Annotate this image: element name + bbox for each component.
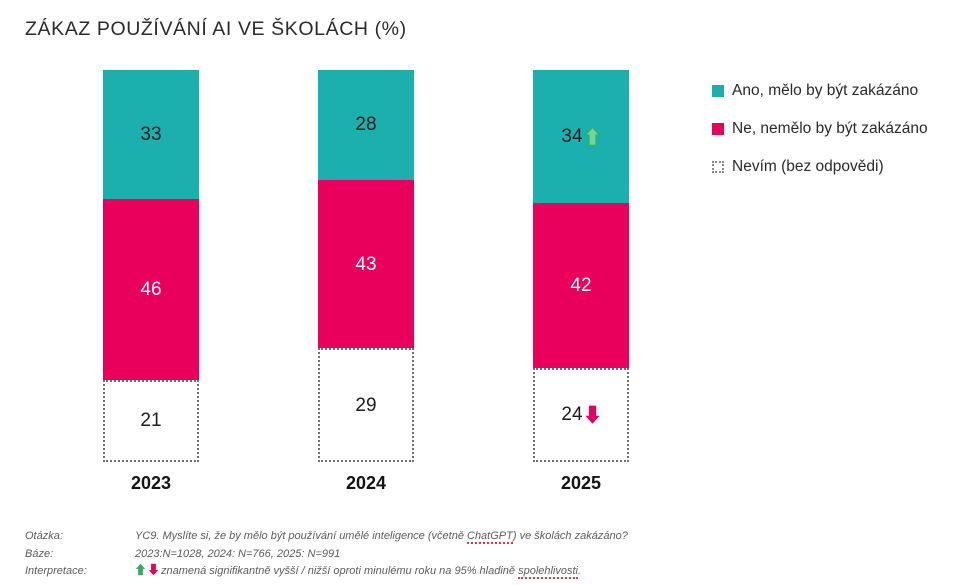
page-title: ZÁKAZ POUŽÍVÁNÍ AI VE ŠKOLÁCH (%) (25, 18, 407, 41)
teal-square-icon (712, 85, 724, 97)
segment-label-wrap: 34 (561, 126, 600, 147)
footnote-label-base: Báze: (25, 546, 135, 564)
interpretation-text-part2: . (578, 565, 581, 577)
footnote-row-question: Otázka: YC9. Myslíte si, že by mělo být … (25, 528, 955, 546)
crimson-square-icon (712, 123, 724, 135)
legend-item-no[interactable]: Ne, nemělo by být zakázáno (712, 120, 970, 138)
dotted-square-icon (712, 161, 724, 173)
x-axis: 2023 2024 2025 (0, 473, 700, 501)
footnote-row-interpretation: Interpretace: znamená signifikantně vyšš… (25, 563, 955, 581)
segment-label-wrap: 24 (561, 404, 600, 425)
x-tick-2025: 2025 (533, 473, 629, 494)
question-spell-chatgpt: ChatGPT (467, 530, 513, 544)
bar-segment-2025-dontknow[interactable]: 24 (533, 368, 629, 462)
bar-segment-2024-yes[interactable]: 28 (318, 70, 414, 180)
bar-group-2025: 34 42 24 (533, 70, 629, 462)
arrow-down-icon (584, 404, 601, 425)
footnote-label-interpretation: Interpretace: (25, 563, 135, 581)
bar-segment-2024-no[interactable]: 43 (318, 180, 414, 349)
footnotes: Otázka: YC9. Myslíte si, že by mělo být … (25, 528, 955, 581)
segment-label-wrap: 29 (355, 396, 376, 415)
arrow-up-icon (135, 563, 146, 576)
footnote-text-question: YC9. Myslíte si, že by mělo být používán… (135, 528, 955, 546)
segment-value: 21 (140, 411, 161, 430)
chart-legend: Ano, mělo by být zakázáno Ne, nemělo by … (712, 82, 970, 196)
arrow-down-icon (148, 563, 159, 576)
arrow-up-icon (584, 126, 601, 147)
bar-segment-2023-yes[interactable]: 33 (103, 70, 199, 199)
question-text-part1: YC9. Myslíte si, že by mělo být používán… (135, 530, 467, 542)
segment-value: 34 (561, 127, 582, 146)
segment-value: 33 (140, 125, 161, 144)
chart-plot-area: 33 46 21 28 43 29 (0, 70, 700, 462)
segment-label-wrap: 21 (140, 411, 161, 430)
segment-value: 46 (140, 280, 161, 299)
bar-segment-2024-dontknow[interactable]: 29 (318, 348, 414, 462)
segment-label-wrap: 43 (355, 255, 376, 274)
footnote-label-question: Otázka: (25, 528, 135, 546)
segment-value: 28 (355, 115, 376, 134)
footnote-row-base: Báze: 2023:N=1028, 2024: N=766, 2025: N=… (25, 546, 955, 564)
bar-group-2024: 28 43 29 (318, 70, 414, 462)
bar-segment-2025-no[interactable]: 42 (533, 203, 629, 368)
segment-value: 29 (355, 396, 376, 415)
bar-segment-2025-yes[interactable]: 34 (533, 70, 629, 203)
segment-label-wrap: 46 (140, 280, 161, 299)
footnote-text-interpretation: znamená signifikantně vyšší / nižší opro… (135, 563, 955, 581)
interpretation-text-part1: znamená signifikantně vyšší / nižší opro… (161, 565, 518, 577)
x-tick-2023: 2023 (103, 473, 199, 494)
legend-label: Ne, nemělo by být zakázáno (732, 120, 928, 138)
legend-label: Ano, mělo by být zakázáno (732, 82, 918, 100)
segment-value: 24 (561, 405, 582, 424)
footnote-text-base: 2023:N=1028, 2024: N=766, 2025: N=991 (135, 546, 955, 564)
legend-label: Nevím (bez odpovědi) (732, 158, 884, 176)
x-tick-2024: 2024 (318, 473, 414, 494)
bar-segment-2023-dontknow[interactable]: 21 (103, 380, 199, 462)
interpretation-spell-spolehlivosti: spolehlivosti (518, 565, 578, 579)
segment-value: 43 (355, 255, 376, 274)
bar-group-2023: 33 46 21 (103, 70, 199, 462)
bar-segment-2023-no[interactable]: 46 (103, 199, 199, 379)
segment-value: 42 (570, 276, 591, 295)
legend-item-yes[interactable]: Ano, mělo by být zakázáno (712, 82, 970, 100)
segment-label-wrap: 42 (570, 276, 591, 295)
legend-item-dontknow[interactable]: Nevím (bez odpovědi) (712, 158, 970, 176)
segment-label-wrap: 28 (355, 115, 376, 134)
segment-label-wrap: 33 (140, 125, 161, 144)
question-text-part2: ) ve školách zakázáno? (513, 530, 628, 542)
